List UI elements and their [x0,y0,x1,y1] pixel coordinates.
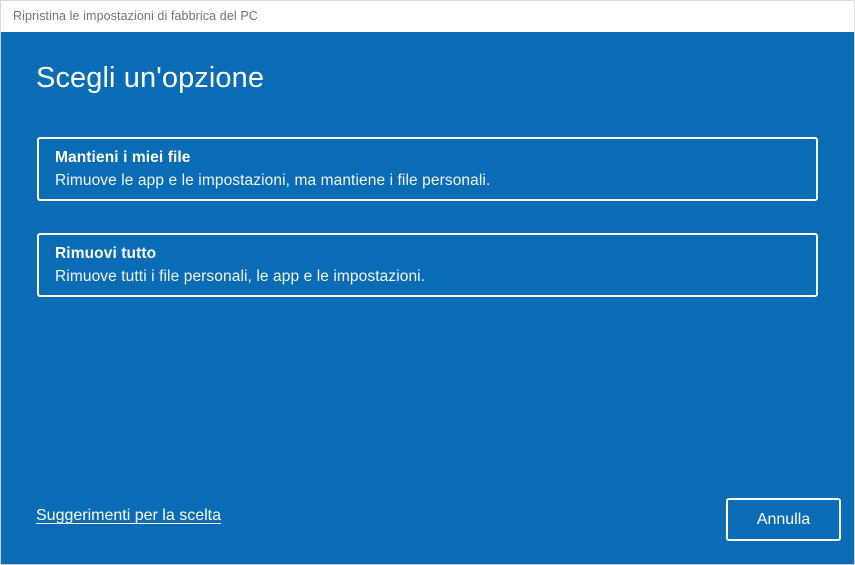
option-title: Rimuovi tutto [55,244,816,265]
help-me-choose-link[interactable]: Suggerimenti per la scelta [36,506,221,525]
window-title: Ripristina le impostazioni di fabbrica d… [13,10,258,23]
option-remove-everything[interactable]: Rimuovi tutto Rimuove tutti i file perso… [37,233,818,297]
page-title: Scegli un'opzione [36,63,264,95]
dialog-content: Scegli un'opzione Mantieni i miei file R… [0,32,855,565]
option-description: Rimuove tutti i file personali, le app e… [55,266,816,288]
cancel-button[interactable]: Annulla [726,498,841,541]
reset-pc-window: Ripristina le impostazioni di fabbrica d… [0,0,855,565]
option-title: Mantieni i miei file [55,148,816,169]
window-titlebar: Ripristina le impostazioni di fabbrica d… [0,0,855,32]
option-keep-my-files[interactable]: Mantieni i miei file Rimuove le app e le… [37,137,818,201]
option-description: Rimuove le app e le impostazioni, ma man… [55,170,816,192]
